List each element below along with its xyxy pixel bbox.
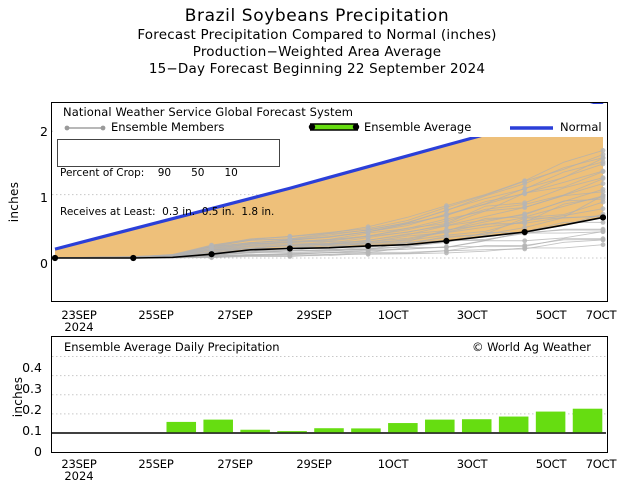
- crop-coverage-table: Percent of Crop: 90 50 10 Receives at Le…: [57, 139, 280, 167]
- bottom-xtick-5: 3OCT: [441, 457, 503, 471]
- top-ytick-0: 0: [8, 256, 48, 271]
- top-ytick-1: 1: [8, 190, 48, 205]
- title-block: Brazil Soybeans Precipitation Forecast P…: [0, 0, 634, 78]
- bottom-chart-title: Ensemble Average Daily Precipitation: [62, 340, 282, 354]
- ensemble-members-swatch-icon: [63, 123, 107, 133]
- copyright-text: © World Ag Weather: [470, 340, 593, 354]
- crop-percent-row: Percent of Crop: 90 50 10: [60, 167, 279, 180]
- bottom-ytick-0: 0: [2, 444, 42, 459]
- bottom-xtick-3: 29SEP: [283, 457, 345, 471]
- subtitle-line-2: Production−Weighted Area Average: [0, 44, 634, 61]
- legend-item-ensemble-members: Ensemble Members: [63, 120, 224, 136]
- bottom-ytick-1: 0.1: [2, 423, 42, 438]
- top-xtick-year: 2024: [48, 320, 110, 334]
- bottom-ytick-4: 0.4: [2, 360, 42, 375]
- ensemble-average-swatch-icon: [308, 121, 360, 133]
- bottom-ytick-3: 0.3: [2, 381, 42, 396]
- top-xtick-5: 3OCT: [441, 308, 503, 322]
- daily-precip-canvas: [52, 337, 606, 451]
- top-xtick-2: 27SEP: [204, 308, 266, 322]
- bottom-xtick-4: 1OCT: [362, 457, 424, 471]
- subtitle-line-3: 15−Day Forecast Beginning 22 September 2…: [0, 61, 634, 78]
- subtitle-line-1: Forecast Precipitation Compared to Norma…: [0, 27, 634, 44]
- legend-source-label: National Weather Service Global Forecast…: [63, 105, 353, 119]
- bottom-xtick-1: 25SEP: [125, 457, 187, 471]
- bottom-xtick-2: 27SEP: [204, 457, 266, 471]
- bottom-ytick-2: 0.2: [2, 402, 42, 417]
- bottom-chart-y-axis-label: inches: [11, 367, 25, 427]
- top-xtick-4: 1OCT: [362, 308, 424, 322]
- bottom-xtick-year: 2024: [48, 469, 110, 483]
- legend-item-ensemble-average: Ensemble Average: [308, 120, 471, 136]
- top-xtick-3: 29SEP: [283, 308, 345, 322]
- normal-swatch-icon: [508, 123, 556, 133]
- legend-normal-text: Normal: [560, 120, 602, 134]
- chart-legend: National Weather Service Global Forecast…: [53, 104, 606, 137]
- crop-amount-row: Receives at Least: 0.3 in. 0.5 in. 1.8 i…: [60, 206, 279, 219]
- top-ytick-2: 2: [8, 124, 48, 139]
- top-xtick-1: 25SEP: [125, 308, 187, 322]
- legend-item-normal: Normal: [508, 120, 602, 136]
- legend-average-text: Ensemble Average: [364, 120, 471, 134]
- top-xtick-7: 7OCT: [570, 308, 632, 322]
- bottom-xtick-7: 7OCT: [570, 457, 632, 471]
- legend-members-text: Ensemble Members: [111, 120, 224, 134]
- page-title: Brazil Soybeans Precipitation: [0, 6, 634, 27]
